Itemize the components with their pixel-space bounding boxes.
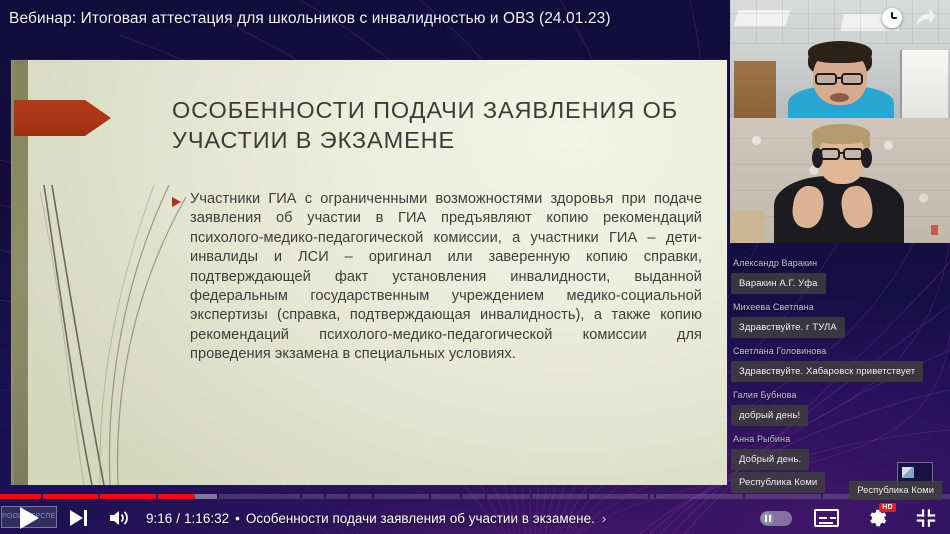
chair [730,211,764,243]
play-icon [20,507,39,529]
progress-chapter[interactable] [350,494,372,499]
glasses [820,148,840,160]
presentation-slide: ОСОБЕННОСТИ ПОДАЧИ ЗАЯВЛЕНИЯ ОБ УЧАСТИИ … [11,60,727,485]
chat-author: Александр Варакин [733,258,942,268]
chat-message: Добрый день. [731,449,809,470]
progress-bar[interactable] [0,494,950,499]
progress-played [43,494,98,499]
time-separator: • [235,511,240,526]
chat-author: Анна Рыбина [733,434,942,444]
window-title-bar: Вебинар: Итоговая аттестация для школьни… [0,0,730,38]
glasses [843,148,863,160]
video-player-stage: Вебинар: Итоговая аттестация для школьни… [0,0,950,534]
subtitles-icon [814,509,839,527]
total-time: 1:16:32 [184,511,229,526]
progress-played [0,494,41,499]
cam-overlay-icons [882,8,936,28]
progress-chapter[interactable] [43,494,98,499]
autoplay-knob [761,512,774,525]
chat-author: Михеева Светлана [733,302,942,312]
slide-bullet-item: Участники ГИА с ограниченными возможност… [172,190,702,365]
clock-icon[interactable] [882,8,902,28]
bullet-marker-icon [172,197,181,207]
slide-body: Участники ГИА с ограниченными возможност… [172,190,702,365]
interpreter-hair-top [812,124,870,144]
volume-icon [108,508,130,528]
hd-badge: HD [879,503,896,512]
slide-bullet-text: Участники ГИА с ограниченными возможност… [190,190,702,365]
volume-button[interactable] [98,502,140,534]
player-control-bar: Республика Коми РООИ ПЕРСПЕКТИВА 9:16 [0,490,950,534]
presenter-mouth [830,93,849,102]
presenter-hair-top [808,41,872,63]
chapter-tooltip: Республика Коми [849,481,942,500]
page-title: Вебинар: Итоговая аттестация для школьни… [9,10,611,28]
chat-overlay: Александр Варакин Варакин А.Г. Уфа Михее… [726,252,942,493]
current-time: 9:16 [146,511,172,526]
progress-chapter[interactable] [431,494,460,499]
chat-message: Здравствуйте. Хабаровск приветствует [731,361,923,382]
presenter-cam[interactable] [730,0,950,118]
progress-chapter[interactable] [487,494,530,499]
slide-title: ОСОБЕННОСТИ ПОДАЧИ ЗАЯВЛЕНИЯ ОБ УЧАСТИИ … [172,96,692,156]
chapter-title[interactable]: Особенности подачи заявления об участии … [246,511,595,526]
glasses-bridge [839,152,845,154]
settings-button[interactable]: HD [850,502,902,534]
chat-author: Галия Бубнова [733,390,942,400]
progress-chapter[interactable] [532,494,587,499]
play-button[interactable]: РООИ ПЕРСПЕКТИВА [0,502,58,534]
progress-played [100,494,156,499]
progress-chapter[interactable] [462,494,486,499]
chevron-right-icon[interactable]: › [602,511,606,526]
progress-chapter[interactable] [158,494,217,499]
chat-message: Здравствуйте. г ТУЛА [731,317,845,338]
control-buttons-row: РООИ ПЕРСПЕКТИВА 9:16 / 1:16:32 • Осо [0,502,950,534]
progress-played [158,494,195,499]
progress-chapter[interactable] [656,494,743,499]
progress-chapter[interactable] [745,494,821,499]
next-icon [70,510,83,526]
glasses [841,73,863,85]
share-icon[interactable] [914,8,936,28]
fullscreen-button[interactable] [902,502,950,534]
progress-chapter[interactable] [219,494,300,499]
chat-message: добрый день! [731,405,808,426]
chat-message: Варакин А.Г. Уфа [731,273,826,294]
progress-chapter[interactable] [650,494,654,499]
sign-language-interpreter-cam[interactable] [730,118,950,243]
glasses-bridge [837,77,843,79]
progress-chapter[interactable] [302,494,325,499]
whiteboard [900,50,948,118]
broken-image-icon [902,467,914,478]
progress-chapter[interactable] [100,494,156,499]
progress-chapter[interactable] [326,494,348,499]
door [734,61,776,118]
progress-chapter[interactable] [941,494,950,499]
next-icon-bar [84,510,87,526]
cam2-corner-marker [931,225,938,235]
exit-fullscreen-icon [915,507,937,529]
glasses [815,73,837,85]
progress-chapter[interactable] [589,494,648,499]
subtitles-button[interactable] [802,502,850,534]
chat-author: Светлана Головинова [733,346,942,356]
time-and-chapter-label: 9:16 / 1:16:32 • Особенности подачи заяв… [146,511,606,526]
progress-chapter[interactable] [0,494,41,499]
autoplay-track [760,511,792,526]
slide-arrow-accent [11,100,111,136]
progress-chapter[interactable] [374,494,429,499]
autoplay-toggle[interactable] [750,502,802,534]
next-video-button[interactable] [58,502,98,534]
